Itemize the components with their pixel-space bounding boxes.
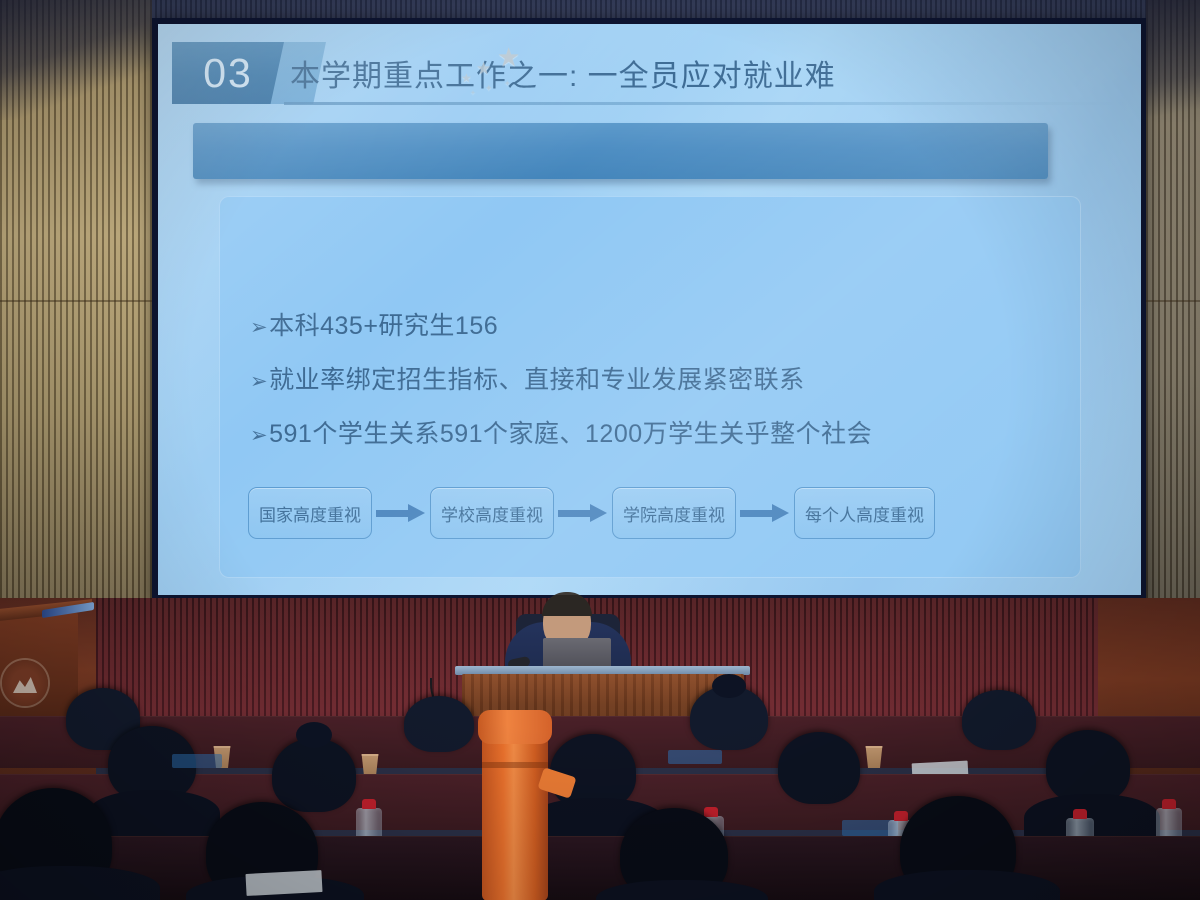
wall-seam-left bbox=[0, 300, 152, 302]
bullet-item-1: ➢ 本科435+研究生156 bbox=[250, 306, 498, 342]
bottle-cap bbox=[894, 811, 908, 821]
flow-arrow-icon-3 bbox=[736, 502, 794, 524]
bullet-item-3: ➢ 591个学生关系591个家庭、1200万学生关乎整个社会 bbox=[250, 414, 872, 450]
bullet-text-3: 591个学生关系591个家庭、1200万学生关乎整个社会 bbox=[269, 414, 872, 450]
device-screen-glow bbox=[172, 754, 222, 768]
projection-screen-frame: 03 本学期重点工作之一: 一全员应对就业难 ★ ★ ★ ✦ ✦ ✦ ➢ 本科4… bbox=[152, 18, 1146, 602]
bullet-text-2: 就业率绑定招生指标、直接和专业发展紧密联系 bbox=[269, 360, 805, 396]
wall-panel-left bbox=[0, 0, 152, 620]
slide-title: 本学期重点工作之一: 一全员应对就业难 bbox=[290, 45, 836, 101]
star-icon-tiny-c: ✦ bbox=[470, 90, 476, 97]
star-icon-tiny-a: ✦ bbox=[485, 84, 493, 93]
flow-diagram: 国家高度重视 学校高度重视 学院高度重视 每个人高度重视 bbox=[248, 484, 1048, 542]
bottle-cap bbox=[1162, 799, 1176, 809]
slide-content-panel: ➢ 本科435+研究生156 ➢ 就业率绑定招生指标、直接和专业发展紧密联系 ➢… bbox=[219, 196, 1081, 578]
audience-head bbox=[404, 696, 474, 752]
orange-thermos bbox=[482, 726, 548, 900]
coffee-cup bbox=[360, 754, 380, 776]
star-icon-small: ★ bbox=[461, 72, 472, 84]
thermos-ring bbox=[482, 762, 548, 768]
bottle-cap bbox=[1073, 809, 1087, 819]
audience-area bbox=[0, 690, 1200, 900]
bullet-marker-icon: ➢ bbox=[250, 423, 268, 448]
star-icon-tiny-b: ✦ bbox=[504, 80, 511, 88]
bottle-cap bbox=[704, 807, 718, 817]
flow-step-2: 学校高度重视 bbox=[430, 487, 554, 539]
flow-arrow-icon-2 bbox=[554, 502, 612, 524]
slide-banner-bar bbox=[193, 123, 1048, 179]
flow-arrow-icon-1 bbox=[372, 502, 430, 524]
bullet-item-2: ➢ 就业率绑定招生指标、直接和专业发展紧密联系 bbox=[250, 360, 805, 396]
section-number-badge: 03 bbox=[172, 42, 284, 104]
flow-step-3: 学院高度重视 bbox=[612, 487, 736, 539]
bullet-marker-icon: ➢ bbox=[250, 315, 268, 340]
bullet-text-1: 本科435+研究生156 bbox=[269, 306, 498, 342]
flow-step-4: 每个人高度重视 bbox=[794, 487, 935, 539]
device-screen-glow bbox=[668, 750, 722, 764]
thermos-cap bbox=[478, 710, 552, 744]
slide-title-row: 03 本学期重点工作之一: 一全员应对就业难 bbox=[158, 42, 1141, 104]
wall-panel-right bbox=[1146, 0, 1200, 620]
audience-head bbox=[272, 738, 356, 812]
star-icon-large: ★ bbox=[497, 44, 520, 70]
audience-hair-bun bbox=[712, 674, 746, 698]
bullet-marker-icon: ➢ bbox=[250, 369, 268, 394]
title-underline bbox=[284, 102, 1134, 105]
bottle-cap bbox=[362, 799, 376, 809]
lecture-hall-scene: 03 本学期重点工作之一: 一全员应对就业难 ★ ★ ★ ✦ ✦ ✦ ➢ 本科4… bbox=[0, 0, 1200, 900]
audience-hair-bun bbox=[296, 722, 332, 748]
audience-head bbox=[1046, 730, 1130, 804]
audience-head bbox=[962, 690, 1036, 750]
presentation-slide: 03 本学期重点工作之一: 一全员应对就业难 ★ ★ ★ ✦ ✦ ✦ ➢ 本科4… bbox=[158, 24, 1141, 595]
handout-paper bbox=[245, 870, 322, 896]
section-number-text: 03 bbox=[203, 53, 253, 94]
star-icon-medium: ★ bbox=[476, 60, 491, 77]
flow-step-1: 国家高度重视 bbox=[248, 487, 372, 539]
audience-head bbox=[778, 732, 860, 804]
wall-seam-right bbox=[1146, 300, 1200, 302]
